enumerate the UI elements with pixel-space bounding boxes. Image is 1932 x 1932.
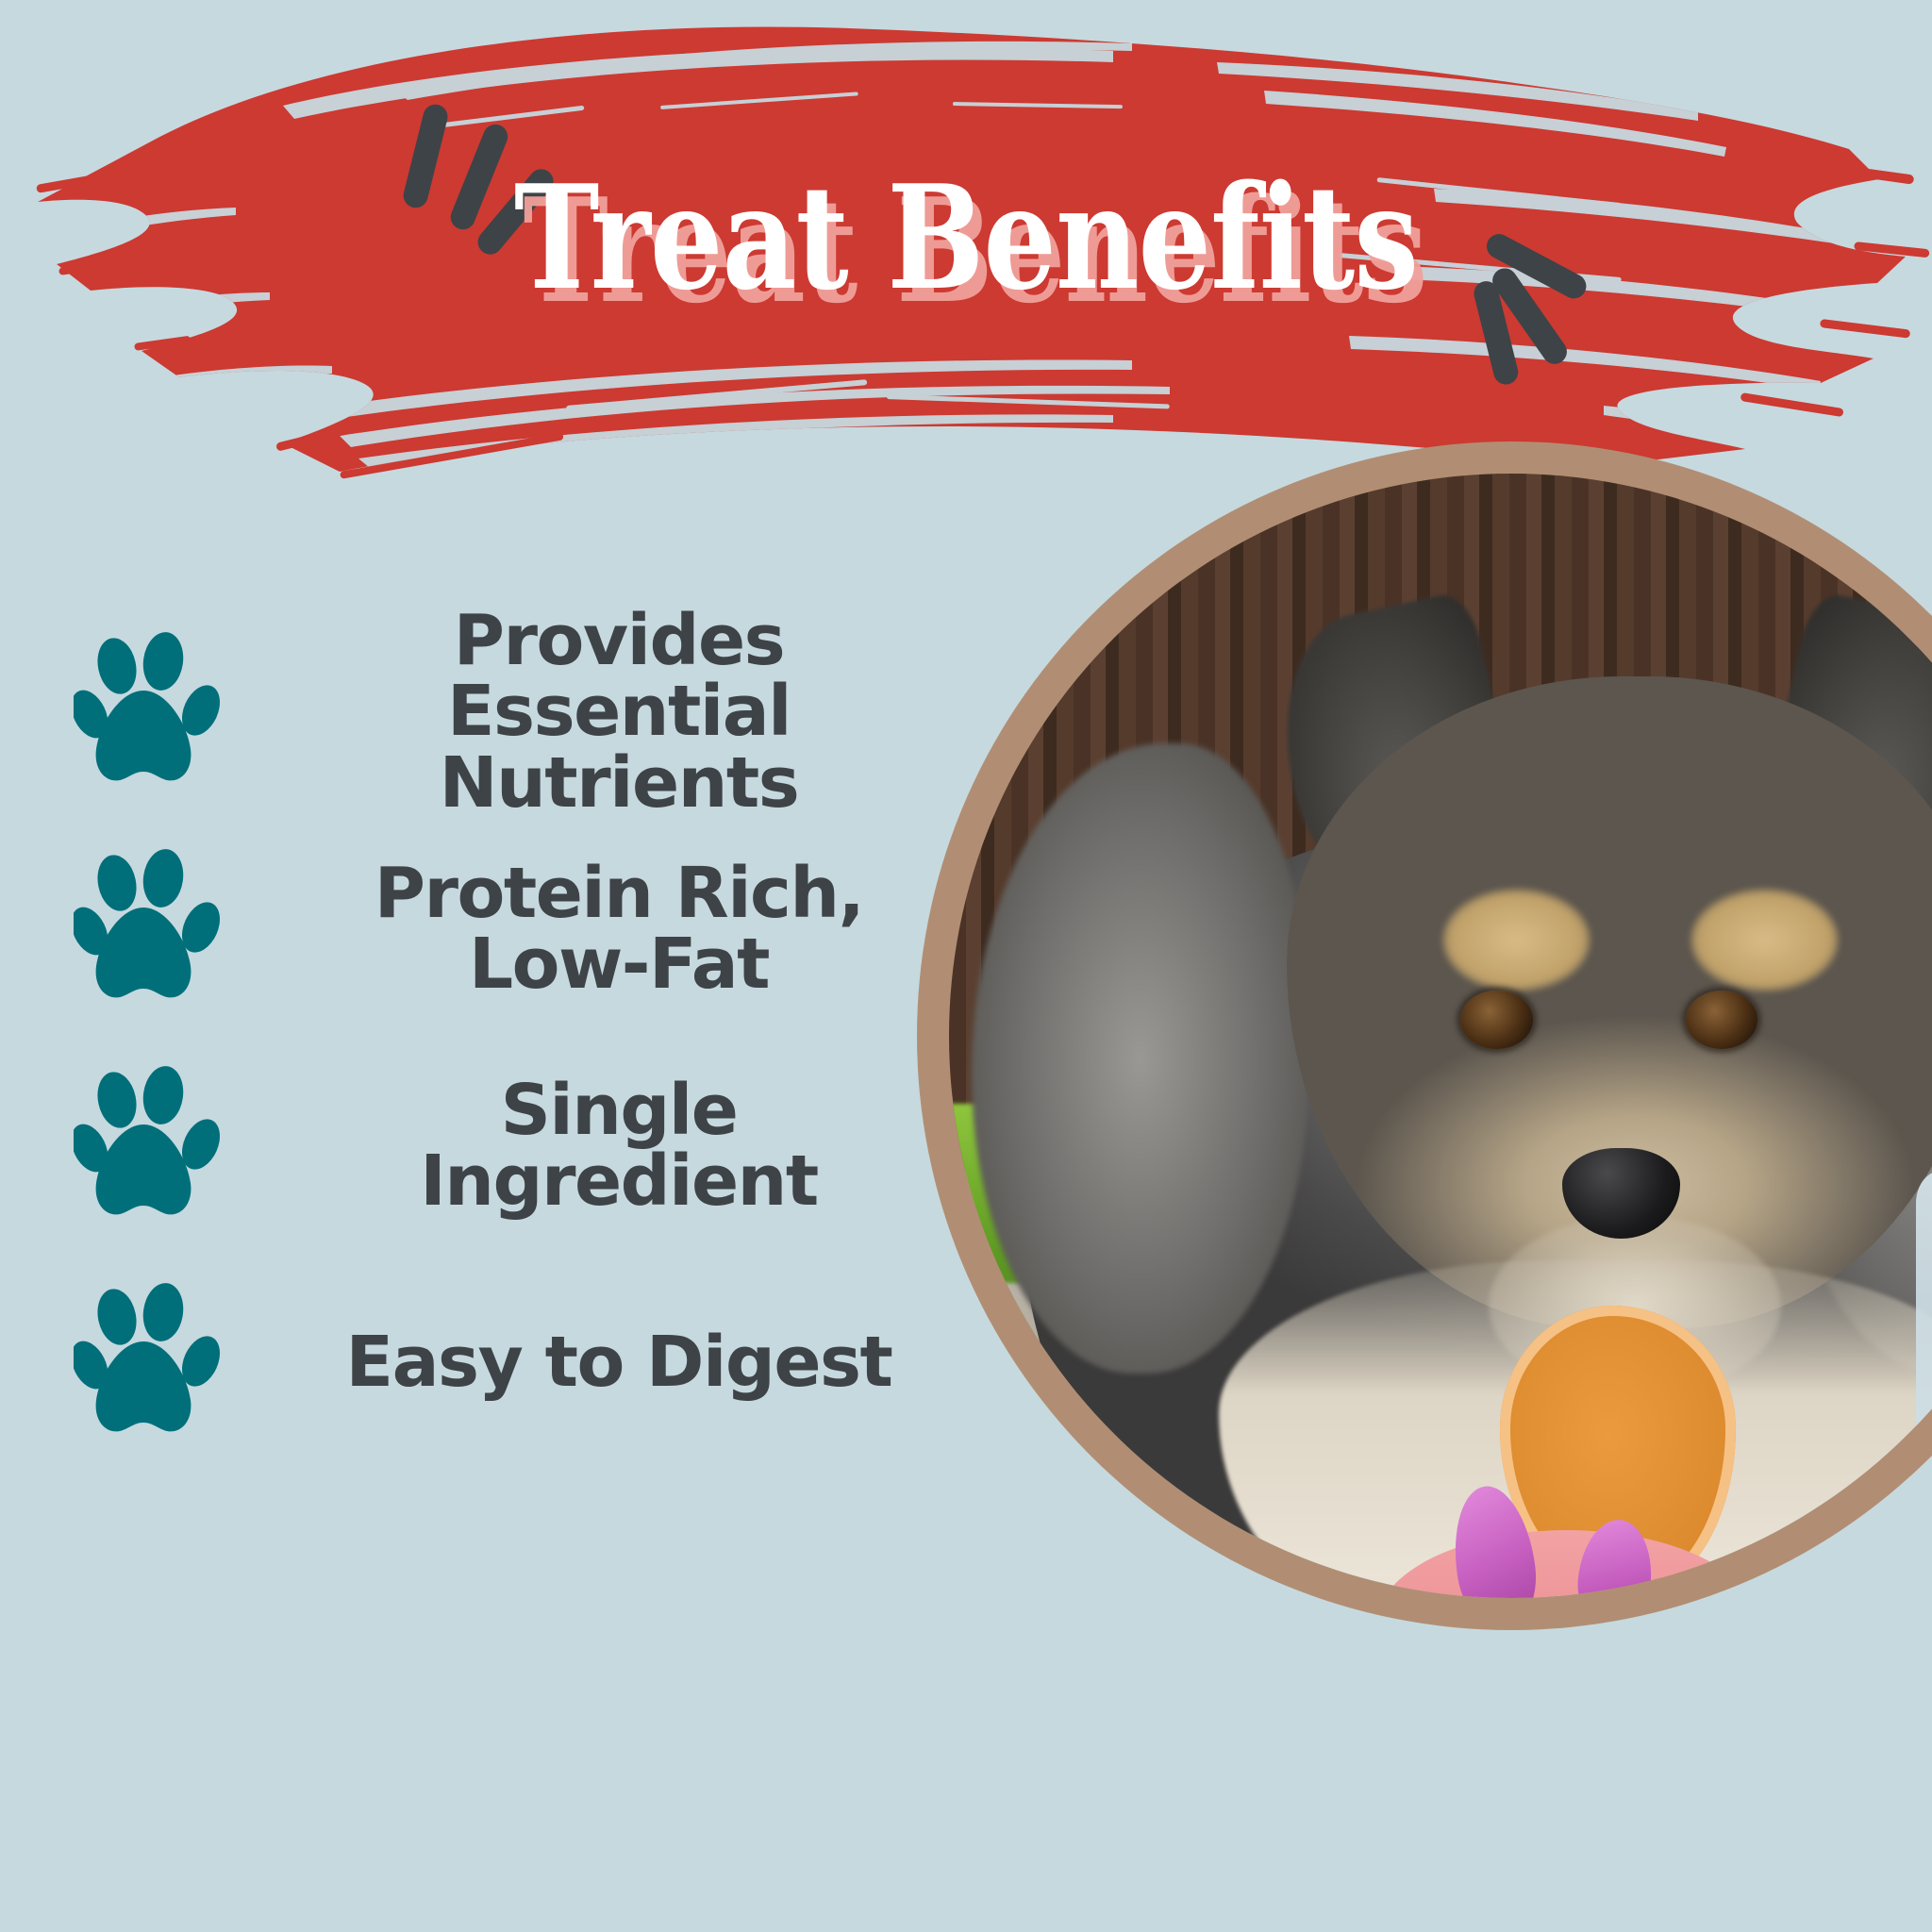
left-accent-dashes [401, 102, 558, 259]
paw-print-icon [74, 1283, 225, 1443]
paw-print-icon [74, 849, 225, 1009]
infographic-canvas: Treat Benefits [0, 0, 1932, 1932]
benefit-label: Easy to Digest [257, 1327, 1000, 1398]
paw-print-icon [74, 632, 225, 792]
dog-left-eyebrow [1443, 890, 1590, 991]
dog-photo-image [949, 474, 1932, 1598]
dog-right-eye [1686, 991, 1757, 1049]
paw-print-icon [74, 1066, 225, 1226]
benefit-item-single-ingredient: Single Ingredient [0, 1038, 1000, 1255]
benefit-item-easy-to-digest: Easy to Digest [0, 1255, 1000, 1472]
benefit-label: Protein Rich, Low-Fat [257, 858, 1000, 1001]
dog-photo-circle [917, 441, 1932, 1630]
page-title: Treat Benefits [193, 166, 1739, 309]
dog-right-eyebrow [1691, 890, 1838, 991]
dog-left-eye [1460, 991, 1532, 1049]
benefit-label: Provides Essential Nutrients [257, 606, 1000, 819]
benefit-item-protein-rich-low-fat: Protein Rich, Low-Fat [0, 821, 1000, 1038]
right-accent-dashes [1472, 230, 1591, 388]
benefit-item-provides-essential-nutrients: Provides Essential Nutrients [0, 604, 1000, 821]
benefit-label: Single Ingredient [257, 1075, 1000, 1218]
benefits-list: Provides Essential Nutrients Protein Ric… [0, 604, 1000, 1472]
background-object [1916, 1171, 1932, 1575]
